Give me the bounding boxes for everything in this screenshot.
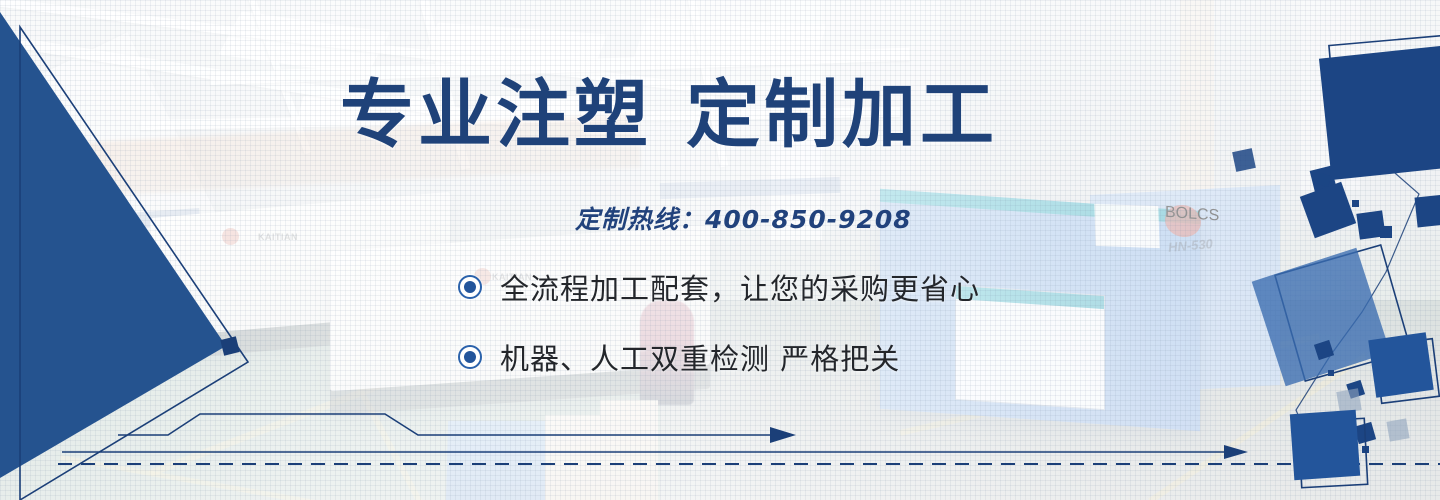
feature-text: 全流程加工配套，让您的采购更省心	[500, 266, 980, 308]
headline-part-2: 定制加工	[686, 72, 998, 158]
headline-part-1: 专业注塑	[340, 72, 652, 158]
hotline-text: 定制热线：400-850-9208	[575, 200, 912, 236]
page-title: 专业注塑定制加工	[340, 78, 998, 152]
feature-list: 全流程加工配套，让您的采购更省心 机器、人工双重检测 严格把关	[458, 266, 980, 406]
radio-dot-icon	[458, 275, 482, 299]
banner-content: 专业注塑定制加工 定制热线：400-850-9208 全流程加工配套，让您的采购…	[0, 0, 1440, 500]
feature-text: 机器、人工双重检测 严格把关	[500, 336, 900, 378]
list-item: 机器、人工双重检测 严格把关	[458, 336, 980, 378]
list-item: 全流程加工配套，让您的采购更省心	[458, 266, 980, 308]
promo-banner: KAITIAN KAITIAN BOLCS HN-530	[0, 0, 1440, 500]
radio-dot-icon	[458, 345, 482, 369]
